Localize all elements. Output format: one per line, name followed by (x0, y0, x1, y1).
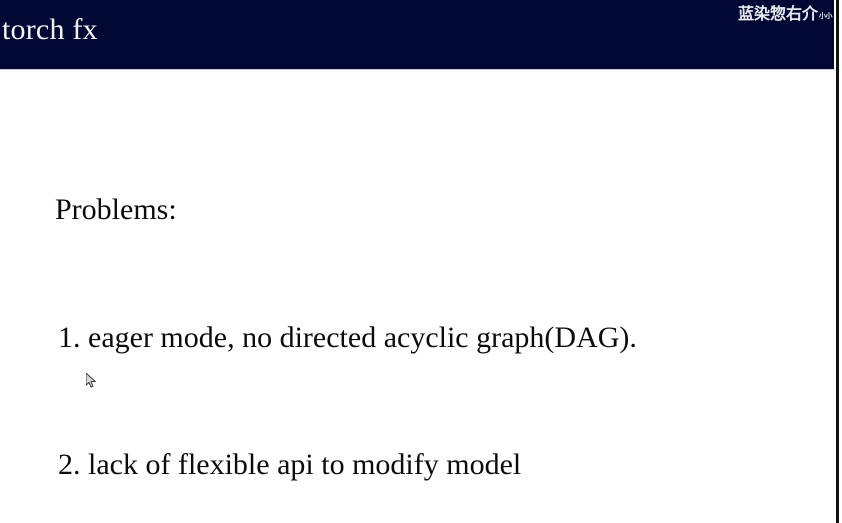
page-title: torch fx (2, 8, 98, 52)
watermark-main-text: 蓝染惣右介 (738, 5, 818, 22)
body-line-problem-2: 2. lack of flexible api to modify model (55, 444, 835, 487)
slide-body-text: Problems: 1. eager mode, no directed acy… (55, 104, 835, 523)
watermark-sub-text: 小小 (819, 11, 832, 21)
watermark: 蓝染惣右介 小小 (738, 5, 832, 22)
slide-header-bar: torch fx 蓝染惣右介 小小 (0, 0, 834, 69)
body-line-problem-1: 1. eager mode, no directed acyclic graph… (55, 317, 835, 360)
header-divider (0, 69, 834, 70)
presentation-slide: torch fx 蓝染惣右介 小小 Problems: 1. eager mod… (0, 0, 842, 523)
body-line-problems-heading: Problems: (55, 189, 835, 232)
window-right-border (836, 0, 839, 523)
